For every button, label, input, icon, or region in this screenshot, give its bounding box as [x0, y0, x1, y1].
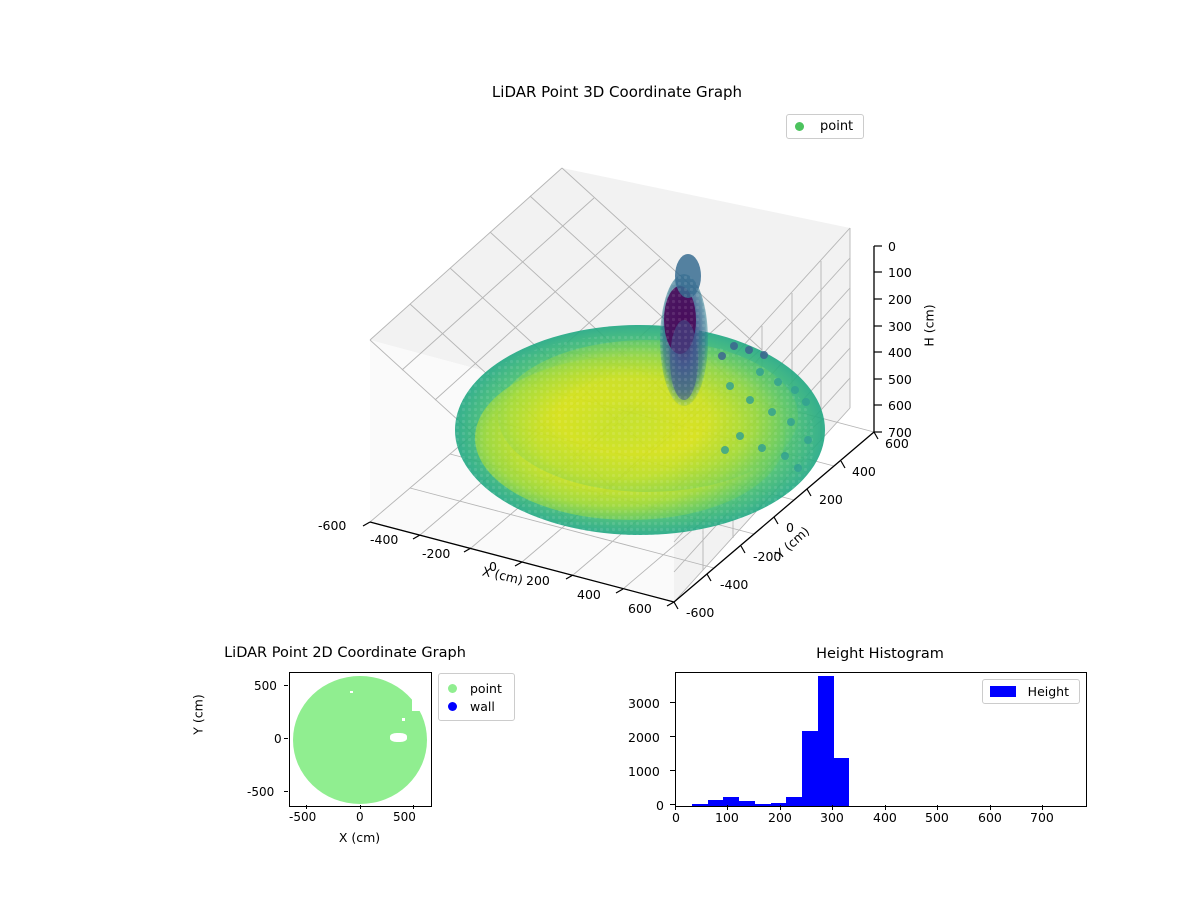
plot3d-legend: point: [786, 114, 864, 139]
histogram-ytick-1: 1000: [628, 764, 660, 779]
plot2d-title: LiDAR Point 2D Coordinate Graph: [195, 645, 495, 661]
plot2d-ytickmark-1: [284, 738, 288, 739]
plot3d-ytick-1: -400: [720, 577, 748, 592]
histogram-bar: [708, 800, 724, 806]
histogram-xtick-3: 300: [820, 810, 844, 825]
histogram-legend: Height: [982, 679, 1080, 704]
legend-patch-height-icon: [990, 686, 1016, 697]
histogram-ytick-0: 0: [656, 798, 664, 813]
histogram-xtickmark-7: [1042, 805, 1043, 810]
plot3d-ztick-6: 600: [888, 398, 912, 413]
plot3d-ztick-1: 100: [888, 265, 912, 280]
plot2d-xlabel: X (cm): [289, 830, 430, 845]
plot2d-ytick-2: -500: [247, 785, 274, 799]
plot3d-xtick-6: 600: [628, 601, 652, 616]
legend-marker-point-icon: [795, 122, 804, 131]
legend-label-height: Height: [1028, 684, 1069, 699]
plot3d-xtick-4: 200: [526, 573, 550, 588]
plot3d-ztick-3: 300: [888, 319, 912, 334]
plot3d-xtick-0: -600: [318, 518, 346, 533]
plot3d-xtick-1: -400: [370, 532, 398, 547]
plot3d-axes[interactable]: -600 -400 -200 0 200 400 600 X (cm) -600…: [330, 150, 930, 630]
plot3d-ztick-7: 700: [888, 425, 912, 440]
histogram-xtick-5: 500: [925, 810, 949, 825]
legend-label-wall: wall: [470, 699, 495, 714]
histogram-xtick-7: 700: [1030, 810, 1054, 825]
histogram-title: Height Histogram: [675, 646, 1085, 662]
plot2d-container: LiDAR Point 2D Coordinate Graph 500 0 -5…: [195, 645, 540, 860]
legend-marker-wall-icon: [448, 702, 457, 711]
plot2d-legend: point wall: [438, 673, 515, 721]
plot3d-ztick-2: 200: [888, 292, 912, 307]
plot3d-ytick-5: 400: [852, 464, 876, 479]
legend-label-point: point: [470, 681, 502, 696]
legend-row-point: point: [448, 679, 502, 697]
plot2d-xtickmark-2: [413, 805, 414, 809]
histogram-xtickmark-6: [990, 805, 991, 810]
histogram-ytick-2: 2000: [628, 730, 660, 745]
plot2d-xtick-0: -500: [289, 810, 316, 824]
histogram-xtickmark-0: [675, 805, 676, 810]
plot3d-xtick-2: -200: [422, 546, 450, 561]
legend-row-wall: wall: [448, 697, 502, 715]
histogram-bar: [818, 676, 834, 806]
plot2d-xtick-1: 0: [356, 810, 364, 824]
plot3d-ztick-5: 500: [888, 372, 912, 387]
histogram-xtick-6: 600: [978, 810, 1002, 825]
histogram-ytickmark-3: [670, 702, 675, 703]
histogram-ytickmark-1: [670, 770, 675, 771]
histogram-ytickmark-2: [670, 736, 675, 737]
histogram-bar: [739, 801, 755, 806]
histogram-bar: [786, 797, 802, 806]
plot3d-ztick-0: 0: [888, 239, 896, 254]
histogram-xtick-1: 100: [715, 810, 739, 825]
plot3d-ytick-0: -600: [686, 605, 714, 620]
histogram-xtickmark-4: [885, 805, 886, 810]
plot2d-ytick-0: 500: [254, 679, 277, 693]
histogram-xtickmark-3: [832, 805, 833, 810]
plot2d-axes[interactable]: [289, 672, 432, 807]
histogram-bar: [723, 797, 739, 806]
histogram-xtick-0: 0: [672, 810, 680, 825]
figure-canvas: LiDAR Point 3D Coordinate Graph point: [0, 0, 1200, 900]
histogram-xtickmark-5: [937, 805, 938, 810]
legend-marker-point-icon: [448, 684, 457, 693]
histogram-bar: [802, 731, 818, 806]
plot3d-xtick-5: 400: [577, 587, 601, 602]
plot2d-ytick-1: 0: [274, 732, 282, 746]
plot3d-canvas: [330, 150, 930, 630]
plot3d-zlabel: H (cm): [922, 304, 937, 346]
plot2d-xtickmark-1: [360, 805, 361, 809]
plot3d-title: LiDAR Point 3D Coordinate Graph: [0, 83, 1200, 101]
plot2d-top-notch: [330, 673, 343, 678]
plot2d-void-2: [402, 718, 405, 721]
histogram-xtickmark-2: [780, 805, 781, 810]
plot3d-ztick-4: 400: [888, 345, 912, 360]
histogram-bar: [834, 758, 850, 806]
plot2d-void: [390, 733, 407, 742]
histogram-container: Height Histogram Height 0 1000 2000 3000…: [600, 645, 1100, 860]
plot2d-ytickmark-0: [284, 685, 288, 686]
plot2d-xtickmark-0: [306, 805, 307, 809]
histogram-xtick-4: 400: [873, 810, 897, 825]
histogram-ytick-3: 3000: [628, 696, 660, 711]
histogram-axes[interactable]: Height: [675, 672, 1087, 807]
plot3d-ytick-4: 200: [819, 492, 843, 507]
plot2d-point-cloud: [293, 676, 427, 804]
plot2d-void-3: [350, 691, 353, 693]
plot2d-ytickmark-2: [284, 791, 288, 792]
plot2d-right-gap: [412, 689, 428, 711]
histogram-bar: [692, 804, 708, 806]
plot2d-xtick-2: 500: [393, 810, 416, 824]
histogram-bar: [771, 803, 787, 806]
histogram-xtickmark-1: [727, 805, 728, 810]
legend-label-point: point: [820, 119, 853, 134]
histogram-xtick-2: 200: [768, 810, 792, 825]
plot2d-ylabel: Y (cm): [191, 694, 206, 734]
histogram-bar: [755, 804, 771, 806]
